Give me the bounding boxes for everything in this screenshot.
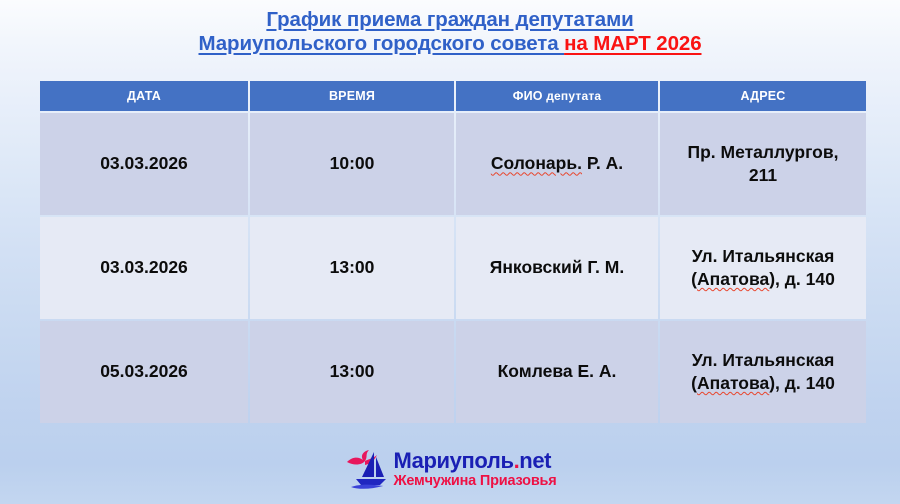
cell-deputy-name: Солонарь. Р. А. [456, 113, 658, 215]
cell-time: 13:00 [250, 321, 454, 423]
address-tail: ), д. 140 [769, 373, 835, 393]
table-header-row: ДАТА ВРЕМЯ ФИО депутата АДРЕС [40, 81, 866, 111]
table-header: ДАТА ВРЕМЯ ФИО депутата АДРЕС [40, 81, 866, 111]
column-header-date: ДАТА [40, 81, 248, 111]
cell-deputy-name: Янковский Г. М. [456, 217, 658, 319]
address-line-2: 211 [749, 165, 777, 185]
column-header-deputy-name: ФИО депутата [456, 81, 658, 111]
title-line-1-text: График приема граждан депутатами [266, 8, 633, 31]
address-line-1: Ул. Итальянская [692, 246, 835, 266]
cell-address: Пр. Металлургов,211 [660, 113, 866, 215]
cell-date: 05.03.2026 [40, 321, 248, 423]
column-header-time: ВРЕМЯ [250, 81, 454, 111]
title-line-2-blue-text: Мариупольского городского совета [199, 32, 565, 55]
logo-title-main: Мариуполь [393, 448, 513, 473]
schedule-table: ДАТА ВРЕМЯ ФИО депутата АДРЕС 03.03.2026… [38, 79, 868, 425]
table-row: 05.03.2026 13:00 Комлева Е. А. Ул. Италь… [40, 321, 866, 423]
page-title: График приема граждан депутатами Мариупо… [0, 8, 900, 56]
logo-inner: Мариуполь.net Жемчужина Приазовья [343, 446, 556, 492]
cell-address: Ул. Итальянская(Апатова), д. 140 [660, 217, 866, 319]
cell-deputy-name-rest: Р. А. [582, 153, 623, 173]
site-logo: Мариуполь.net Жемчужина Приазовья [0, 446, 900, 492]
table-body: 03.03.2026 10:00 Солонарь. Р. А. Пр. Мет… [40, 113, 866, 423]
seagull-sailboat-icon [343, 446, 389, 492]
column-header-deputy-name-abbr: ФИО [513, 89, 543, 103]
address-line-1: Ул. Итальянская [692, 350, 835, 370]
cell-deputy-name: Комлева Е. А. [456, 321, 658, 423]
slide-canvas: График приема граждан депутатами Мариупо… [0, 0, 900, 504]
misspelled-word: Апатова [697, 269, 769, 289]
cell-address: Ул. Итальянская(Апатова), д. 140 [660, 321, 866, 423]
title-line-1: График приема граждан депутатами [0, 8, 900, 32]
table-row: 03.03.2026 13:00 Янковский Г. М. Ул. Ита… [40, 217, 866, 319]
logo-subtitle: Жемчужина Приазовья [393, 474, 556, 489]
address-line-1: Пр. Металлургов, [688, 142, 839, 162]
cell-date: 03.03.2026 [40, 217, 248, 319]
cell-time: 13:00 [250, 217, 454, 319]
table-row: 03.03.2026 10:00 Солонарь. Р. А. Пр. Мет… [40, 113, 866, 215]
column-header-address: АДРЕС [660, 81, 866, 111]
cell-time: 10:00 [250, 113, 454, 215]
cell-date: 03.03.2026 [40, 113, 248, 215]
logo-title: Мариуполь.net [393, 450, 556, 472]
address-tail: ), д. 140 [769, 269, 835, 289]
column-header-deputy-name-rest: депутата [543, 89, 602, 103]
misspelled-word: Солонарь. [491, 153, 582, 173]
logo-title-tld: net [519, 448, 551, 473]
logo-text: Мариуполь.net Жемчужина Приазовья [393, 450, 556, 489]
misspelled-word: Апатова [697, 373, 769, 393]
title-line-2: Мариупольского городского совета на МАРТ… [0, 32, 900, 56]
title-line-2-red-text: на МАРТ 2026 [564, 32, 701, 55]
